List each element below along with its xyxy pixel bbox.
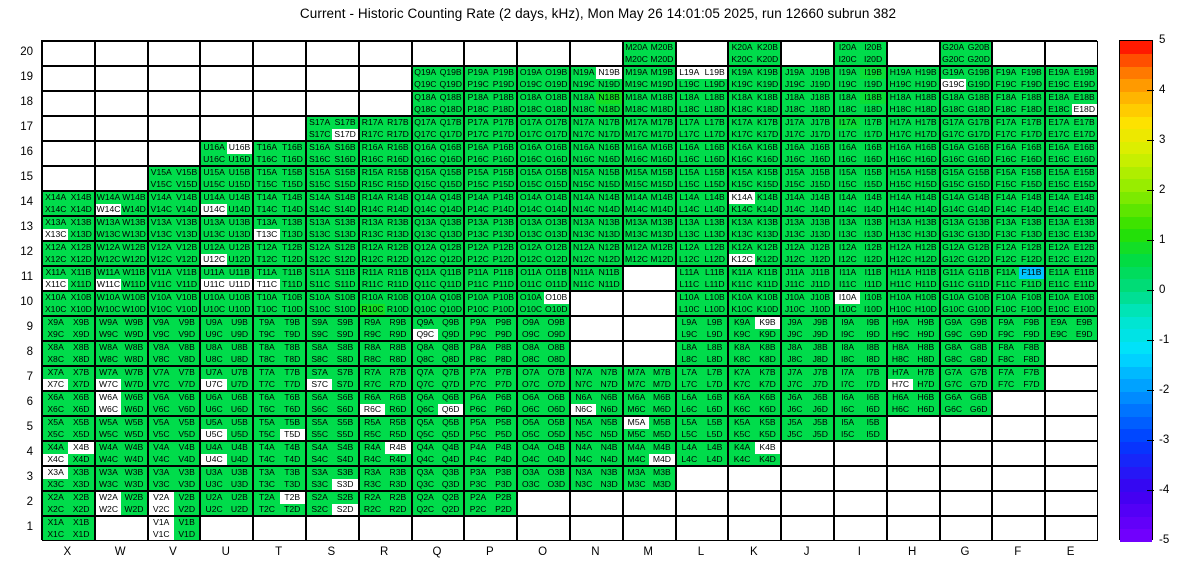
detector-quadrant-K11B[interactable]: K11B [755, 267, 780, 279]
detector-quadrant-K17A[interactable]: K17A [729, 117, 754, 129]
detector-quadrant-L8D[interactable]: L8D [702, 354, 727, 366]
detector-quadrant-K11C[interactable]: K11C [729, 279, 754, 291]
detector-module-W6[interactable]: W6AW6BW6CW6D [95, 391, 148, 416]
detector-quadrant-N19C[interactable]: N19C [571, 79, 596, 91]
detector-quadrant-G14A[interactable]: G14A [941, 192, 966, 204]
detector-quadrant-P14D[interactable]: P14D [491, 204, 516, 216]
detector-module-I9[interactable]: I9AI9BI9CI9D [834, 316, 887, 341]
detector-module-H14[interactable]: H14AH14BH14CH14D [887, 191, 940, 216]
detector-quadrant-P7C[interactable]: P7C [465, 379, 490, 391]
detector-quadrant-O14A[interactable]: O14A [518, 192, 543, 204]
detector-quadrant-W13D[interactable]: W13D [121, 229, 146, 241]
detector-quadrant-X5C[interactable]: X5C [43, 429, 68, 441]
detector-quadrant-T10A[interactable]: T10A [254, 292, 279, 304]
detector-quadrant-G12C[interactable]: G12C [941, 254, 966, 266]
detector-quadrant-T8A[interactable]: T8A [254, 342, 279, 354]
detector-quadrant-R5D[interactable]: R5D [385, 429, 410, 441]
detector-quadrant-K19B[interactable]: K19B [755, 67, 780, 79]
detector-module-F13[interactable]: F13AF13BF13CF13D [992, 216, 1045, 241]
detector-quadrant-V9A[interactable]: V9A [149, 317, 174, 329]
detector-quadrant-X7C[interactable]: X7C [43, 379, 68, 391]
detector-quadrant-M16C[interactable]: M16C [624, 154, 649, 166]
detector-quadrant-G7D[interactable]: G7D [966, 379, 991, 391]
detector-module-F9[interactable]: F9AF9BF9CF9D [992, 316, 1045, 341]
detector-quadrant-S17B[interactable]: S17B [332, 117, 357, 129]
detector-quadrant-J5B[interactable]: J5B [808, 417, 833, 429]
detector-quadrant-O8A[interactable]: O8A [518, 342, 543, 354]
detector-quadrant-N7D[interactable]: N7D [596, 379, 621, 391]
detector-quadrant-V5A[interactable]: V5A [149, 417, 174, 429]
detector-quadrant-P6C[interactable]: P6C [465, 404, 490, 416]
detector-quadrant-N5C[interactable]: N5C [571, 429, 596, 441]
detector-quadrant-U11C[interactable]: U11C [201, 279, 226, 291]
detector-quadrant-R2B[interactable]: R2B [385, 492, 410, 504]
detector-quadrant-J18C[interactable]: J18C [782, 104, 807, 116]
detector-quadrant-S12B[interactable]: S12B [332, 242, 357, 254]
detector-quadrant-V5D[interactable]: V5D [174, 429, 199, 441]
detector-quadrant-P2B[interactable]: P2B [491, 492, 516, 504]
detector-module-K17[interactable]: K17AK17BK17CK17D [728, 116, 781, 141]
detector-quadrant-M4D[interactable]: M4D [649, 454, 674, 466]
detector-quadrant-I16A[interactable]: I16A [835, 142, 860, 154]
detector-quadrant-O19B[interactable]: O19B [544, 67, 569, 79]
detector-quadrant-O6A[interactable]: O6A [518, 392, 543, 404]
detector-quadrant-N6B[interactable]: N6B [596, 392, 621, 404]
detector-quadrant-W11C[interactable]: W11C [96, 279, 121, 291]
detector-module-K18[interactable]: K18AK18BK18CK18D [728, 91, 781, 116]
detector-quadrant-T9D[interactable]: T9D [280, 329, 305, 341]
detector-quadrant-F14C[interactable]: F14C [993, 204, 1018, 216]
detector-quadrant-W10B[interactable]: W10B [121, 292, 146, 304]
detector-quadrant-U13A[interactable]: U13A [201, 217, 226, 229]
detector-quadrant-I15A[interactable]: I15A [835, 167, 860, 179]
detector-quadrant-W9D[interactable]: W9D [121, 329, 146, 341]
detector-quadrant-Q6B[interactable]: Q6B [438, 392, 463, 404]
detector-quadrant-F12D[interactable]: F12D [1019, 254, 1044, 266]
detector-module-J11[interactable]: J11AJ11BJ11CJ11D [781, 266, 834, 291]
detector-quadrant-W14D[interactable]: W14D [121, 204, 146, 216]
detector-quadrant-K16D[interactable]: K16D [755, 154, 780, 166]
detector-quadrant-L13B[interactable]: L13B [702, 217, 727, 229]
detector-module-I14[interactable]: I14AI14BI14CI14D [834, 191, 887, 216]
detector-quadrant-N19D[interactable]: N19D [596, 79, 621, 91]
detector-quadrant-K8D[interactable]: K8D [755, 354, 780, 366]
detector-quadrant-J7A[interactable]: J7A [782, 367, 807, 379]
detector-quadrant-T4A[interactable]: T4A [254, 442, 279, 454]
detector-quadrant-E9A[interactable]: E9A [1046, 317, 1071, 329]
detector-quadrant-P18C[interactable]: P18C [465, 104, 490, 116]
detector-quadrant-P13D[interactable]: P13D [491, 229, 516, 241]
detector-module-G19[interactable]: G19AG19BG19CG19D [940, 66, 993, 91]
detector-quadrant-K6B[interactable]: K6B [755, 392, 780, 404]
detector-quadrant-O7A[interactable]: O7A [518, 367, 543, 379]
detector-module-W11[interactable]: W11AW11BW11CW11D [95, 266, 148, 291]
detector-module-S5[interactable]: S5AS5BS5CS5D [306, 416, 359, 441]
detector-quadrant-N14D[interactable]: N14D [596, 204, 621, 216]
detector-quadrant-I13A[interactable]: I13A [835, 217, 860, 229]
detector-quadrant-X8D[interactable]: X8D [68, 354, 93, 366]
detector-quadrant-O17C[interactable]: O17C [518, 129, 543, 141]
detector-module-U4[interactable]: U4AU4BU4CU4D [200, 441, 253, 466]
detector-quadrant-Q5D[interactable]: Q5D [438, 429, 463, 441]
detector-quadrant-S6B[interactable]: S6B [332, 392, 357, 404]
detector-quadrant-H10D[interactable]: H10D [913, 304, 938, 316]
detector-quadrant-N18C[interactable]: N18C [571, 104, 596, 116]
detector-quadrant-M15D[interactable]: M15D [649, 179, 674, 191]
detector-module-R13[interactable]: R13AR13BR13CR13D [359, 216, 412, 241]
detector-module-N5[interactable]: N5AN5BN5CN5D [570, 416, 623, 441]
detector-quadrant-G16B[interactable]: G16B [966, 142, 991, 154]
detector-quadrant-L16A[interactable]: L16A [677, 142, 702, 154]
detector-quadrant-M7C[interactable]: M7C [624, 379, 649, 391]
detector-quadrant-G16A[interactable]: G16A [941, 142, 966, 154]
detector-quadrant-K20B[interactable]: K20B [755, 42, 780, 54]
detector-quadrant-K16C[interactable]: K16C [729, 154, 754, 166]
detector-quadrant-I11C[interactable]: I11C [835, 279, 860, 291]
detector-quadrant-K9A[interactable]: K9A [729, 317, 754, 329]
detector-quadrant-S12C[interactable]: S12C [307, 254, 332, 266]
detector-quadrant-O16D[interactable]: O16D [544, 154, 569, 166]
detector-quadrant-N3C[interactable]: N3C [571, 479, 596, 491]
detector-quadrant-K7B[interactable]: K7B [755, 367, 780, 379]
detector-quadrant-J8B[interactable]: J8B [808, 342, 833, 354]
detector-quadrant-T8D[interactable]: T8D [280, 354, 305, 366]
detector-quadrant-R9B[interactable]: R9B [385, 317, 410, 329]
detector-quadrant-W2D[interactable]: W2D [121, 504, 146, 516]
detector-quadrant-W10A[interactable]: W10A [96, 292, 121, 304]
detector-quadrant-S13C[interactable]: S13C [307, 229, 332, 241]
detector-quadrant-X7B[interactable]: X7B [68, 367, 93, 379]
detector-quadrant-O9D[interactable]: O9D [544, 329, 569, 341]
detector-quadrant-U10B[interactable]: U10B [227, 292, 252, 304]
detector-quadrant-X13B[interactable]: X13B [68, 217, 93, 229]
detector-quadrant-W4C[interactable]: W4C [96, 454, 121, 466]
detector-quadrant-V3B[interactable]: V3B [174, 467, 199, 479]
detector-module-W10[interactable]: W10AW10BW10CW10D [95, 291, 148, 316]
detector-module-H19[interactable]: H19AH19BH19CH19D [887, 66, 940, 91]
detector-module-I6[interactable]: I6AI6BI6CI6D [834, 391, 887, 416]
detector-quadrant-T7B[interactable]: T7B [280, 367, 305, 379]
detector-module-P17[interactable]: P17AP17BP17CP17D [464, 116, 517, 141]
detector-quadrant-M18C[interactable]: M18C [624, 104, 649, 116]
detector-module-E16[interactable]: E16AE16BE16CE16D [1045, 141, 1098, 166]
detector-module-L16[interactable]: L16AL16BL16CL16D [676, 141, 729, 166]
detector-quadrant-E16A[interactable]: E16A [1046, 142, 1071, 154]
detector-quadrant-I17A[interactable]: I17A [835, 117, 860, 129]
detector-module-E17[interactable]: E17AE17BE17CE17D [1045, 116, 1098, 141]
detector-quadrant-S11B[interactable]: S11B [332, 267, 357, 279]
detector-quadrant-Q17D[interactable]: Q17D [438, 129, 463, 141]
detector-quadrant-E19C[interactable]: E19C [1046, 79, 1071, 91]
detector-quadrant-S10A[interactable]: S10A [307, 292, 332, 304]
detector-module-V1[interactable]: V1AV1BV1CV1D [148, 516, 201, 541]
detector-quadrant-K12B[interactable]: K12B [755, 242, 780, 254]
detector-quadrant-H12B[interactable]: H12B [913, 242, 938, 254]
detector-quadrant-E12D[interactable]: E12D [1072, 254, 1097, 266]
detector-quadrant-T2D[interactable]: T2D [280, 504, 305, 516]
detector-quadrant-W14B[interactable]: W14B [121, 192, 146, 204]
detector-quadrant-G6A[interactable]: G6A [941, 392, 966, 404]
detector-module-O12[interactable]: O12AO12BO12CO12D [517, 241, 570, 266]
detector-module-K7[interactable]: K7AK7BK7CK7D [728, 366, 781, 391]
detector-quadrant-R14C[interactable]: R14C [360, 204, 385, 216]
detector-module-L12[interactable]: L12AL12BL12CL12D [676, 241, 729, 266]
detector-module-S8[interactable]: S8AS8BS8CS8D [306, 341, 359, 366]
detector-quadrant-W13A[interactable]: W13A [96, 217, 121, 229]
detector-module-J17[interactable]: J17AJ17BJ17CJ17D [781, 116, 834, 141]
detector-module-L14[interactable]: L14AL14BL14CL14D [676, 191, 729, 216]
detector-quadrant-U10C[interactable]: U10C [201, 304, 226, 316]
detector-quadrant-N3A[interactable]: N3A [571, 467, 596, 479]
detector-quadrant-V8C[interactable]: V8C [149, 354, 174, 366]
detector-quadrant-Q13A[interactable]: Q13A [413, 217, 438, 229]
detector-quadrant-T15C[interactable]: T15C [254, 179, 279, 191]
detector-quadrant-H17B[interactable]: H17B [913, 117, 938, 129]
detector-quadrant-Q2A[interactable]: Q2A [413, 492, 438, 504]
detector-quadrant-N4B[interactable]: N4B [596, 442, 621, 454]
detector-quadrant-N13A[interactable]: N13A [571, 217, 596, 229]
detector-quadrant-U2B[interactable]: U2B [227, 492, 252, 504]
detector-quadrant-F8A[interactable]: F8A [993, 342, 1018, 354]
detector-quadrant-O12A[interactable]: O12A [518, 242, 543, 254]
detector-quadrant-P9C[interactable]: P9C [465, 329, 490, 341]
detector-quadrant-Q15A[interactable]: Q15A [413, 167, 438, 179]
detector-module-W13[interactable]: W13AW13BW13CW13D [95, 216, 148, 241]
detector-quadrant-J11D[interactable]: J11D [808, 279, 833, 291]
detector-quadrant-P16B[interactable]: P16B [491, 142, 516, 154]
detector-quadrant-G9D[interactable]: G9D [966, 329, 991, 341]
detector-quadrant-G15C[interactable]: G15C [941, 179, 966, 191]
detector-quadrant-P12B[interactable]: P12B [491, 242, 516, 254]
detector-quadrant-M20D[interactable]: M20D [649, 54, 674, 66]
detector-quadrant-X9D[interactable]: X9D [68, 329, 93, 341]
detector-quadrant-O16A[interactable]: O16A [518, 142, 543, 154]
detector-module-Q2[interactable]: Q2AQ2BQ2CQ2D [412, 491, 465, 516]
detector-quadrant-L17C[interactable]: L17C [677, 129, 702, 141]
detector-quadrant-H18C[interactable]: H18C [888, 104, 913, 116]
detector-quadrant-T11C[interactable]: T11C [254, 279, 279, 291]
detector-quadrant-Q2B[interactable]: Q2B [438, 492, 463, 504]
detector-quadrant-N13D[interactable]: N13D [596, 229, 621, 241]
detector-quadrant-N18B[interactable]: N18B [596, 92, 621, 104]
detector-module-M18[interactable]: M18AM18BM18CM18D [623, 91, 676, 116]
detector-quadrant-M19C[interactable]: M19C [624, 79, 649, 91]
detector-quadrant-R4C[interactable]: R4C [360, 454, 385, 466]
detector-quadrant-R7C[interactable]: R7C [360, 379, 385, 391]
detector-quadrant-F11B[interactable]: F11B [1019, 267, 1044, 279]
detector-quadrant-Q7C[interactable]: Q7C [413, 379, 438, 391]
detector-quadrant-K15B[interactable]: K15B [755, 167, 780, 179]
detector-quadrant-P14B[interactable]: P14B [491, 192, 516, 204]
detector-quadrant-T13A[interactable]: T13A [254, 217, 279, 229]
detector-quadrant-U8A[interactable]: U8A [201, 342, 226, 354]
detector-quadrant-I19B[interactable]: I19B [860, 67, 885, 79]
detector-quadrant-O5B[interactable]: O5B [544, 417, 569, 429]
detector-quadrant-M6B[interactable]: M6B [649, 392, 674, 404]
detector-quadrant-Q6D[interactable]: Q6D [438, 404, 463, 416]
detector-quadrant-U4C[interactable]: U4C [201, 454, 226, 466]
detector-quadrant-X13D[interactable]: X13D [68, 229, 93, 241]
detector-quadrant-F17B[interactable]: F17B [1019, 117, 1044, 129]
detector-module-K5[interactable]: K5AK5BK5CK5D [728, 416, 781, 441]
detector-quadrant-O10C[interactable]: O10C [518, 304, 543, 316]
detector-quadrant-J7D[interactable]: J7D [808, 379, 833, 391]
detector-quadrant-F8C[interactable]: F8C [993, 354, 1018, 366]
detector-module-H16[interactable]: H16AH16BH16CH16D [887, 141, 940, 166]
detector-quadrant-P4A[interactable]: P4A [465, 442, 490, 454]
detector-quadrant-R9C[interactable]: R9C [360, 329, 385, 341]
detector-quadrant-J18A[interactable]: J18A [782, 92, 807, 104]
detector-module-U15[interactable]: U15AU15BU15CU15D [200, 166, 253, 191]
detector-quadrant-K13A[interactable]: K13A [729, 217, 754, 229]
detector-quadrant-K16B[interactable]: K16B [755, 142, 780, 154]
detector-quadrant-V4C[interactable]: V4C [149, 454, 174, 466]
detector-quadrant-E18A[interactable]: E18A [1046, 92, 1071, 104]
detector-quadrant-J19A[interactable]: J19A [782, 67, 807, 79]
detector-quadrant-R14D[interactable]: R14D [385, 204, 410, 216]
detector-module-M13[interactable]: M13AM13BM13CM13D [623, 216, 676, 241]
detector-module-N17[interactable]: N17AN17BN17CN17D [570, 116, 623, 141]
detector-quadrant-K10A[interactable]: K10A [729, 292, 754, 304]
detector-quadrant-E17B[interactable]: E17B [1072, 117, 1097, 129]
detector-quadrant-U8D[interactable]: U8D [227, 354, 252, 366]
detector-quadrant-R9D[interactable]: R9D [385, 329, 410, 341]
detector-quadrant-W4A[interactable]: W4A [96, 442, 121, 454]
detector-quadrant-K12C[interactable]: K12C [729, 254, 754, 266]
detector-module-J6[interactable]: J6AJ6BJ6CJ6D [781, 391, 834, 416]
detector-quadrant-X3D[interactable]: X3D [68, 479, 93, 491]
detector-quadrant-P11A[interactable]: P11A [465, 267, 490, 279]
detector-module-O8[interactable]: O8AO8BO8CO8D [517, 341, 570, 366]
detector-quadrant-N16C[interactable]: N16C [571, 154, 596, 166]
detector-module-H17[interactable]: H17AH17BH17CH17D [887, 116, 940, 141]
detector-module-X5[interactable]: X5AX5BX5CX5D [42, 416, 95, 441]
detector-quadrant-I19D[interactable]: I19D [860, 79, 885, 91]
detector-quadrant-I13C[interactable]: I13C [835, 229, 860, 241]
detector-quadrant-O9B[interactable]: O9B [544, 317, 569, 329]
detector-quadrant-G18C[interactable]: G18C [941, 104, 966, 116]
detector-quadrant-S11A[interactable]: S11A [307, 267, 332, 279]
detector-module-V3[interactable]: V3AV3BV3CV3D [148, 466, 201, 491]
detector-module-F7[interactable]: F7AF7BF7CF7D [992, 366, 1045, 391]
detector-module-F10[interactable]: F10AF10BF10CF10D [992, 291, 1045, 316]
detector-quadrant-J17D[interactable]: J17D [808, 129, 833, 141]
detector-quadrant-G20B[interactable]: G20B [966, 42, 991, 54]
detector-module-K10[interactable]: K10AK10BK10CK10D [728, 291, 781, 316]
detector-quadrant-Q11A[interactable]: Q11A [413, 267, 438, 279]
detector-quadrant-K15A[interactable]: K15A [729, 167, 754, 179]
detector-module-T4[interactable]: T4AT4BT4CT4D [253, 441, 306, 466]
detector-quadrant-K8C[interactable]: K8C [729, 354, 754, 366]
detector-quadrant-L11D[interactable]: L11D [702, 279, 727, 291]
detector-quadrant-P19C[interactable]: P19C [465, 79, 490, 91]
detector-quadrant-P8C[interactable]: P8C [465, 354, 490, 366]
detector-module-W12[interactable]: W12AW12BW12CW12D [95, 241, 148, 266]
detector-module-O11[interactable]: O11AO11BO11CO11D [517, 266, 570, 291]
detector-quadrant-I10A[interactable]: I10A [835, 292, 860, 304]
detector-quadrant-U9C[interactable]: U9C [201, 329, 226, 341]
detector-quadrant-M14D[interactable]: M14D [649, 204, 674, 216]
detector-quadrant-H9A[interactable]: H9A [888, 317, 913, 329]
detector-quadrant-J11C[interactable]: J11C [782, 279, 807, 291]
detector-module-Q4[interactable]: Q4AQ4BQ4CQ4D [412, 441, 465, 466]
detector-quadrant-O14C[interactable]: O14C [518, 204, 543, 216]
detector-module-M7[interactable]: M7AM7BM7CM7D [623, 366, 676, 391]
detector-quadrant-X1D[interactable]: X1D [68, 529, 93, 541]
detector-quadrant-F9A[interactable]: F9A [993, 317, 1018, 329]
detector-quadrant-N16D[interactable]: N16D [596, 154, 621, 166]
detector-quadrant-N11D[interactable]: N11D [596, 279, 621, 291]
detector-module-U9[interactable]: U9AU9BU9CU9D [200, 316, 253, 341]
detector-quadrant-O3B[interactable]: O3B [544, 467, 569, 479]
detector-module-O9[interactable]: O9AO9BO9CO9D [517, 316, 570, 341]
detector-quadrant-V9B[interactable]: V9B [174, 317, 199, 329]
detector-quadrant-J13B[interactable]: J13B [808, 217, 833, 229]
detector-quadrant-L8A[interactable]: L8A [677, 342, 702, 354]
detector-module-H13[interactable]: H13AH13BH13CH13D [887, 216, 940, 241]
detector-quadrant-I18D[interactable]: I18D [860, 104, 885, 116]
detector-module-Q6[interactable]: Q6AQ6BQ6CQ6D [412, 391, 465, 416]
detector-quadrant-S15A[interactable]: S15A [307, 167, 332, 179]
detector-quadrant-X12D[interactable]: X12D [68, 254, 93, 266]
detector-quadrant-L6C[interactable]: L6C [677, 404, 702, 416]
detector-quadrant-J15B[interactable]: J15B [808, 167, 833, 179]
detector-quadrant-E17C[interactable]: E17C [1046, 129, 1071, 141]
detector-quadrant-W13B[interactable]: W13B [121, 217, 146, 229]
detector-module-T3[interactable]: T3AT3BT3CT3D [253, 466, 306, 491]
detector-quadrant-N5A[interactable]: N5A [571, 417, 596, 429]
detector-quadrant-K14A[interactable]: K14A [729, 192, 754, 204]
detector-quadrant-S4A[interactable]: S4A [307, 442, 332, 454]
detector-quadrant-W3C[interactable]: W3C [96, 479, 121, 491]
detector-quadrant-U13B[interactable]: U13B [227, 217, 252, 229]
detector-quadrant-P11D[interactable]: P11D [491, 279, 516, 291]
detector-quadrant-E15B[interactable]: E15B [1072, 167, 1097, 179]
detector-quadrant-I8B[interactable]: I8B [860, 342, 885, 354]
detector-quadrant-J14B[interactable]: J14B [808, 192, 833, 204]
detector-quadrant-H16D[interactable]: H16D [913, 154, 938, 166]
detector-quadrant-R14A[interactable]: R14A [360, 192, 385, 204]
detector-quadrant-H19D[interactable]: H19D [913, 79, 938, 91]
detector-quadrant-O7C[interactable]: O7C [518, 379, 543, 391]
detector-quadrant-K20A[interactable]: K20A [729, 42, 754, 54]
detector-quadrant-O5D[interactable]: O5D [544, 429, 569, 441]
detector-quadrant-W4B[interactable]: W4B [121, 442, 146, 454]
detector-module-P15[interactable]: P15AP15BP15CP15D [464, 166, 517, 191]
detector-module-R14[interactable]: R14AR14BR14CR14D [359, 191, 412, 216]
detector-quadrant-J9A[interactable]: J9A [782, 317, 807, 329]
detector-quadrant-V2C[interactable]: V2C [149, 504, 174, 516]
detector-quadrant-W6C[interactable]: W6C [96, 404, 121, 416]
detector-quadrant-M12C[interactable]: M12C [624, 254, 649, 266]
detector-module-L11[interactable]: L11AL11BL11CL11D [676, 266, 729, 291]
detector-quadrant-L7A[interactable]: L7A [677, 367, 702, 379]
detector-quadrant-T3B[interactable]: T3B [280, 467, 305, 479]
detector-quadrant-K18D[interactable]: K18D [755, 104, 780, 116]
detector-quadrant-X11D[interactable]: X11D [68, 279, 93, 291]
detector-quadrant-I11D[interactable]: I11D [860, 279, 885, 291]
detector-module-R16[interactable]: R16AR16BR16CR16D [359, 141, 412, 166]
detector-quadrant-R8A[interactable]: R8A [360, 342, 385, 354]
detector-quadrant-R11D[interactable]: R11D [385, 279, 410, 291]
detector-quadrant-L17B[interactable]: L17B [702, 117, 727, 129]
detector-quadrant-O5A[interactable]: O5A [518, 417, 543, 429]
detector-quadrant-F16B[interactable]: F16B [1019, 142, 1044, 154]
detector-quadrant-E13D[interactable]: E13D [1072, 229, 1097, 241]
detector-module-H11[interactable]: H11AH11BH11CH11D [887, 266, 940, 291]
detector-quadrant-M12A[interactable]: M12A [624, 242, 649, 254]
detector-quadrant-G16D[interactable]: G16D [966, 154, 991, 166]
